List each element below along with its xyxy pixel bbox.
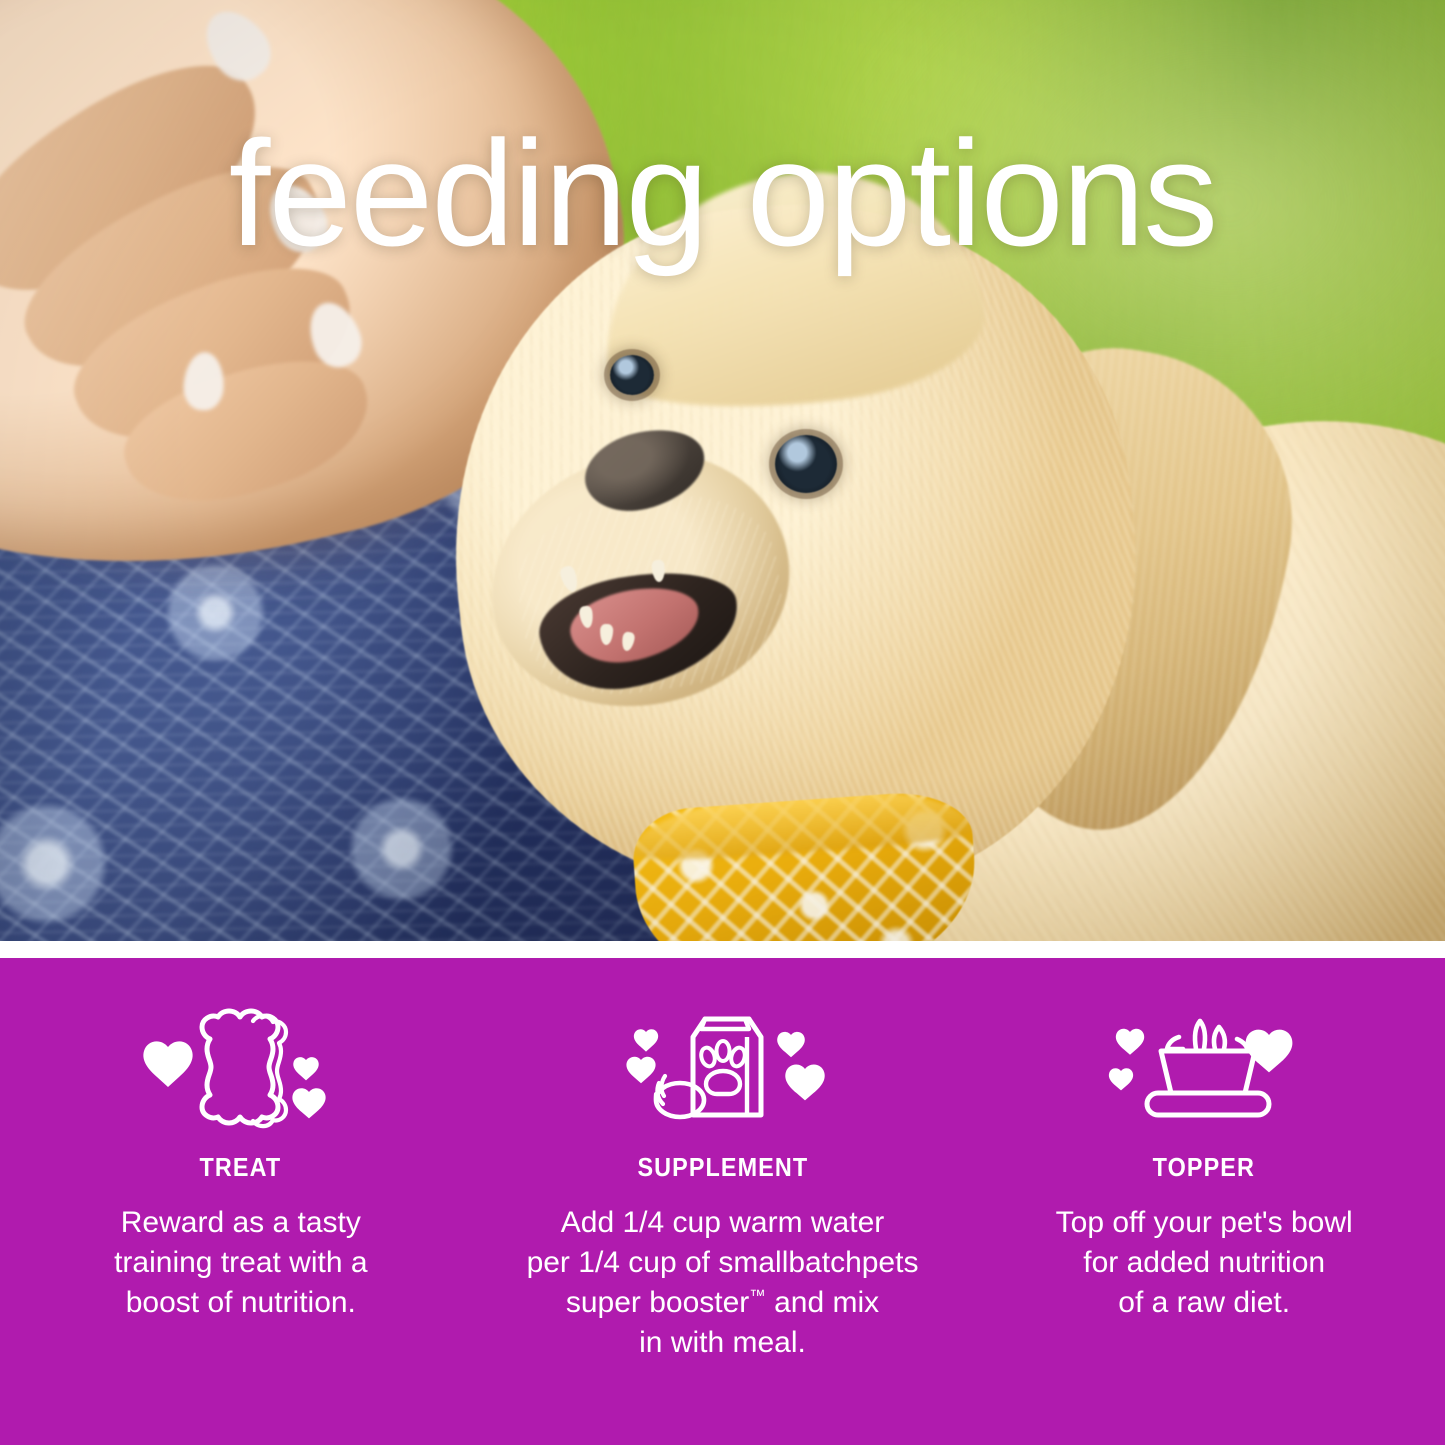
feeding-option-topper: TOPPER Top off your pet's bowl for added… xyxy=(963,958,1445,1445)
food-bag-supplement-icon xyxy=(613,1002,833,1132)
photo-panel-divider xyxy=(0,941,1445,958)
page-title-bold: feeding xyxy=(229,109,707,277)
page-title-light: options xyxy=(707,109,1216,277)
feeding-option-title: TREAT xyxy=(200,1152,282,1183)
dog-bone-treat-icon xyxy=(141,1002,341,1132)
feeding-option-description: Top off your pet's bowl for added nutrit… xyxy=(1056,1203,1353,1323)
hero-photo: feeding options xyxy=(0,0,1445,941)
trademark-symbol: ™ xyxy=(749,1287,766,1305)
feeding-option-title: SUPPLEMENT xyxy=(637,1152,808,1183)
feeding-options-panel: TREAT Reward as a tasty training treat w… xyxy=(0,958,1445,1445)
feeding-option-description: Reward as a tasty training treat with a … xyxy=(114,1203,367,1323)
pet-bowl-topper-icon xyxy=(1099,1002,1309,1132)
feeding-option-treat: TREAT Reward as a tasty training treat w… xyxy=(0,958,482,1445)
feeding-options-infographic: feeding options TREAT Reward as xyxy=(0,0,1445,1445)
feeding-option-title: TOPPER xyxy=(1153,1152,1255,1183)
page-title: feeding options xyxy=(0,118,1445,268)
feeding-option-supplement: SUPPLEMENT Add 1/4 cup warm water per 1/… xyxy=(482,958,964,1445)
feeding-option-description: Add 1/4 cup warm water per 1/4 cup of sm… xyxy=(527,1203,919,1363)
